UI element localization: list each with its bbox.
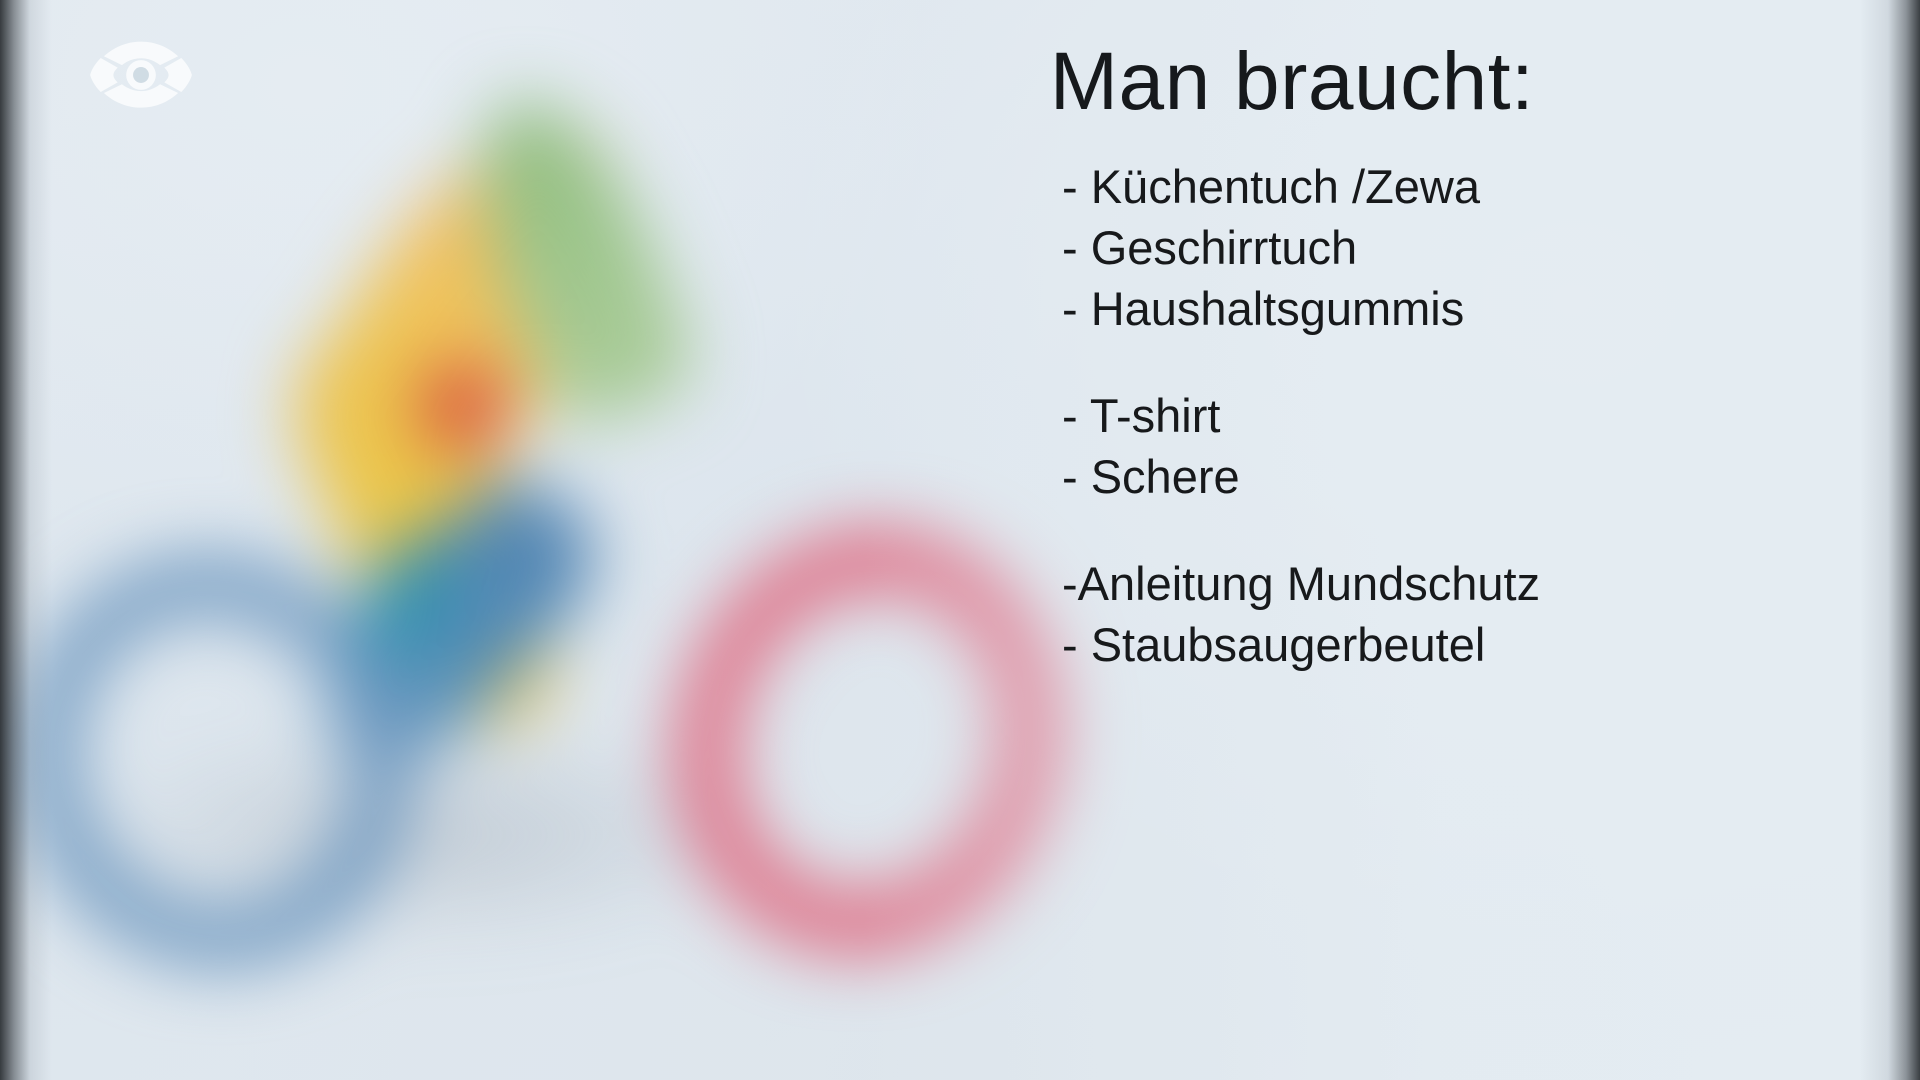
list-item: - Haushaltsgummis bbox=[872, 278, 1792, 339]
bullet-group-3: -Anleitung Mundschutz - Staubsaugerbeute… bbox=[872, 553, 1792, 675]
scissors-pivot-screw bbox=[415, 360, 510, 455]
list-item: - Schere bbox=[872, 446, 1792, 507]
eye-iris-logo-icon bbox=[88, 22, 194, 128]
list-item: - T-shirt bbox=[872, 385, 1792, 446]
slide-canvas: Man braucht: - Küchentuch /Zewa - Geschi… bbox=[0, 0, 1920, 1080]
bullet-group-1: - Küchentuch /Zewa - Geschirrtuch - Haus… bbox=[872, 156, 1792, 339]
list-item: - Staubsaugerbeutel bbox=[872, 614, 1792, 675]
page-title: Man braucht: bbox=[872, 36, 1792, 128]
slide-text-column: Man braucht: - Küchentuch /Zewa - Geschi… bbox=[872, 36, 1792, 675]
list-item: - Küchentuch /Zewa bbox=[872, 156, 1792, 217]
bullet-group-2: - T-shirt - Schere bbox=[872, 385, 1792, 507]
list-item: -Anleitung Mundschutz bbox=[872, 553, 1792, 614]
list-item: - Geschirrtuch bbox=[872, 217, 1792, 278]
